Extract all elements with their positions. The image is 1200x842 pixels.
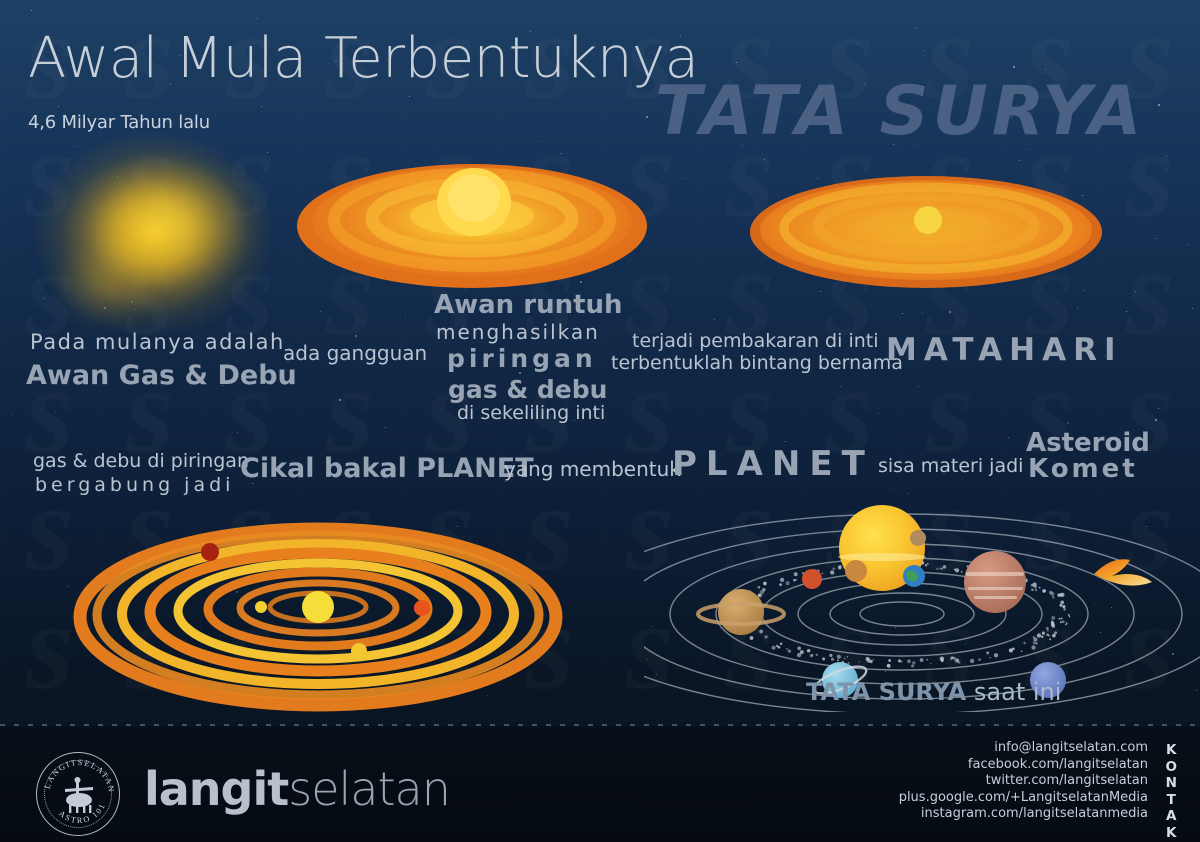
gas-cloud-nebula-glow	[30, 140, 280, 345]
svg-text:LANGITSELATAN: LANGITSELATAN	[43, 758, 116, 794]
stage3-line2: menghasilkan	[436, 320, 600, 344]
solar-system-caption: TATA SURYA saat ini	[806, 678, 1061, 706]
contact-list: info@langitselatan.comfacebook.com/langi…	[899, 740, 1148, 823]
page-title-big: TATA SURYA	[655, 72, 1145, 151]
stage9-planet: PLANET	[672, 444, 874, 484]
protoplanetary-disk-star-formed	[748, 172, 1108, 294]
solar-system-caption-bold: TATA SURYA	[806, 678, 966, 706]
planet-mars	[802, 569, 822, 589]
stage3-line1: Awan runtuh	[434, 290, 623, 320]
infographic-poster: ssssssssssssssssssssssssssssssssssssssss…	[0, 0, 1200, 842]
stage4-line2: terbentuklah bintang bernama	[611, 352, 903, 374]
contact-item-2[interactable]: twitter.com/langitselatan	[899, 773, 1148, 790]
stage1-line2: Awan Gas & Debu	[26, 360, 297, 391]
stage10-label: sisa materi jadi	[878, 455, 1023, 477]
planet-saturn	[718, 589, 764, 635]
stage3-line4: gas & debu	[448, 375, 607, 404]
planet-mercury	[910, 530, 926, 546]
seal-top-text: LANGITSELATAN	[43, 758, 116, 794]
solar-system-caption-rest: saat ini	[966, 678, 1061, 706]
kontak-letter: N	[1166, 775, 1178, 792]
stage8-label: yang membentuk	[504, 457, 681, 481]
page-subtitle: 4,6 Milyar Tahun lalu	[28, 112, 210, 133]
stage6-line1: gas & debu di piringan	[33, 450, 249, 472]
seal-bottom-text: ASTRO 101	[57, 801, 107, 825]
kontak-letter: A	[1166, 808, 1178, 825]
contact-item-4[interactable]: instagram.com/langitselatanmedia	[899, 806, 1148, 823]
page-title: Awal Mula Terbentuknya	[28, 26, 699, 91]
footer-divider	[0, 724, 1200, 726]
contact-item-0[interactable]: info@langitselatan.com	[899, 740, 1148, 757]
protoplanetary-system-disk	[70, 512, 570, 712]
protoplanetary-disk-collapsing	[292, 140, 652, 300]
kontak-letter: O	[1166, 759, 1178, 776]
svg-text:ASTRO 101: ASTRO 101	[57, 801, 107, 825]
stage1-line1: Pada mulanya adalah	[30, 330, 285, 354]
kontak-letter: T	[1166, 792, 1178, 809]
planet-jupiter	[964, 551, 1026, 613]
kontak-letter: K	[1166, 742, 1178, 759]
contact-item-1[interactable]: facebook.com/langitselatan	[899, 757, 1148, 774]
brand-wordmark: langitselatan	[144, 762, 450, 816]
stage5-matahari: MATAHARI	[886, 332, 1123, 368]
seal-icon: LANGITSELATAN ASTRO 101	[37, 753, 121, 837]
brand-selatan: selatan	[288, 762, 450, 816]
kontak-vertical-label: KONTAK	[1166, 742, 1178, 841]
stage3-line3: piringan	[447, 344, 597, 373]
kontak-letter: K	[1166, 825, 1178, 842]
stage3-line5: di sekeliling inti	[457, 402, 605, 424]
stage7-cikal-bakal-planet: Cikal bakal PLANET	[240, 453, 534, 484]
contact-item-3[interactable]: plus.google.com/+LangitselatanMedia	[899, 790, 1148, 807]
langitselatan-seal-logo: LANGITSELATAN ASTRO 101	[36, 752, 120, 836]
stage11-komet: Komet	[1028, 454, 1138, 484]
stage6-line2: bergabung jadi	[35, 474, 234, 496]
stage2-label: ada gangguan	[283, 341, 427, 365]
planet-venus	[845, 560, 867, 582]
comet	[1094, 559, 1152, 585]
stage4-line1: terjadi pembakaran di inti	[632, 330, 879, 352]
brand-langit: langit	[144, 762, 288, 816]
